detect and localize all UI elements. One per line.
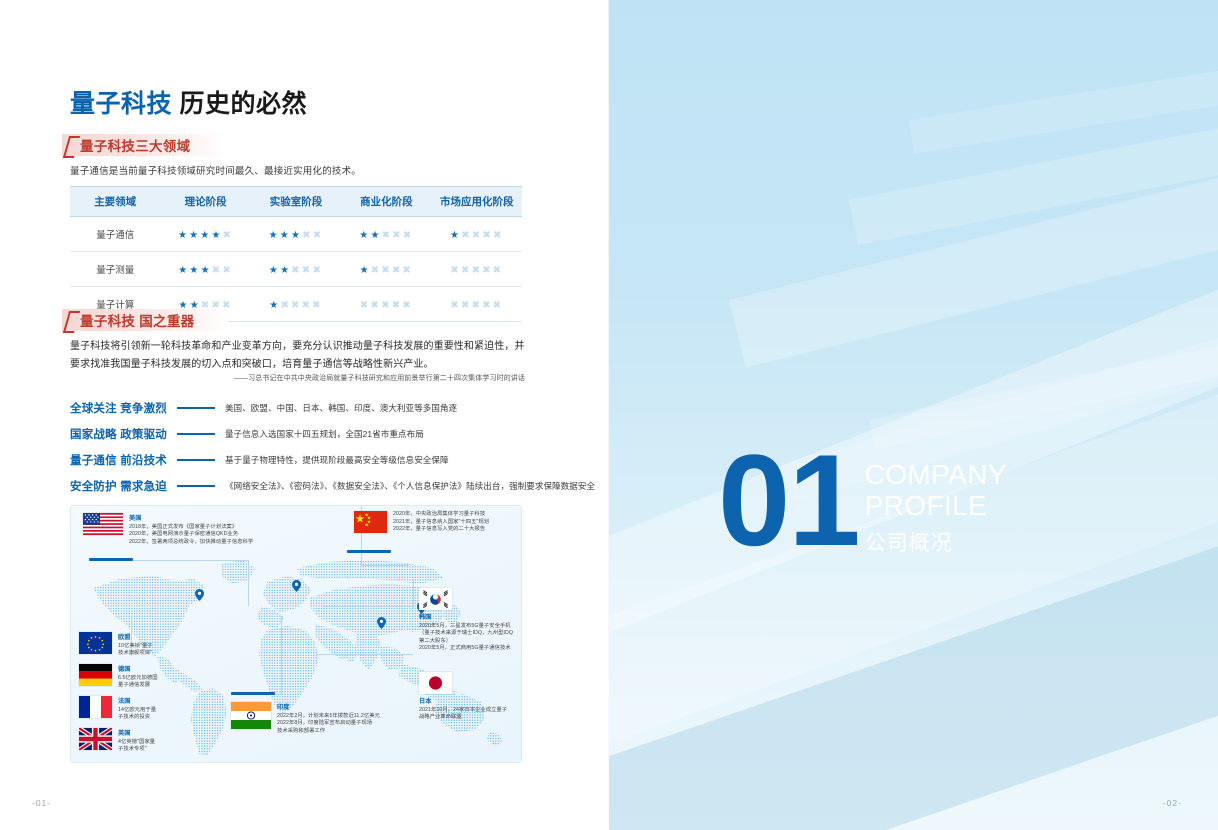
star-rating: ✖✖✖✖✖	[450, 300, 503, 311]
star-filled-icon: ★	[280, 265, 291, 276]
section1-lead-text: 量子通信是当前量子科技领域研究时间最久、最接近实用化的技术。	[70, 163, 361, 177]
table-cell-rating: ★✖✖✖✖	[432, 217, 522, 252]
left-page: 量子科技 历史的必然 量子科技三大领域 量子通信是当前量子科技领域研究时间最久、…	[0, 0, 609, 830]
right-page: -02-	[609, 0, 1218, 830]
connector-usa-vertical	[248, 560, 249, 606]
table-cell-rating: ✖✖✖✖✖	[432, 252, 522, 287]
page-title: 量子科技 历史的必然	[70, 84, 307, 120]
annotation-china-line-3: 2022年，量子信息写入党的二十大报告	[393, 526, 489, 534]
table-cell-rating: ★★★✖✖	[160, 252, 250, 287]
col-header-market: 市场应用化阶段	[432, 187, 522, 217]
star-filled-icon: ★	[178, 265, 189, 276]
table-cell-rating: ✖✖✖✖✖	[341, 287, 431, 322]
domains-table: 主要领域 理论阶段 实验室阶段 商业化阶段 市场应用化阶段 量子通信★★★★✖★…	[70, 186, 522, 322]
star-rating: ★★✖✖✖	[269, 265, 323, 276]
world-map-panel: 美国 2018年，美国正式发布《国家量子计划法案》 2020年，美国电网演示量子…	[70, 505, 522, 763]
star-filled-icon: ★	[291, 230, 302, 241]
star-rating: ★✖✖✖✖	[360, 265, 414, 276]
star-empty-icon: ✖	[212, 265, 223, 276]
flag-korea-icon	[419, 588, 452, 610]
star-filled-icon: ★	[189, 265, 200, 276]
key-point-1-label: 全球关注 竞争激烈	[70, 400, 167, 416]
key-point-2-desc: 量子信息入选国家十四五规划，全国21省市重点布局	[225, 428, 424, 440]
key-point-4-dash-icon	[177, 485, 215, 486]
star-empty-icon: ✖	[493, 265, 504, 276]
flag-india-icon	[231, 702, 271, 729]
key-point-3-label: 量子通信 前沿技术	[70, 452, 167, 468]
star-empty-icon: ✖	[493, 230, 504, 241]
annotation-korea-line-1: 2020年5月，三星发布5G量子安全手机	[419, 623, 513, 631]
key-point-4: 安全防护 需求急迫 《网络安全法》、《密码法》、《数据安全法》、《个人信息保护法…	[70, 478, 595, 494]
annotation-korea-line-2: （量子技术来源于瑞士IDQ，九州型IDQ	[419, 630, 513, 638]
star-empty-icon: ✖	[280, 300, 291, 311]
annotation-uk-line-1: 4亿英镑"国家量	[118, 739, 155, 747]
annotation-korea-line-3: 第二大股东）	[419, 638, 513, 646]
star-empty-icon: ✖	[461, 265, 472, 276]
annotation-usa-title: 美国	[129, 513, 253, 522]
table-cell-rating: ★★★✖✖	[251, 217, 341, 252]
star-empty-icon: ✖	[392, 300, 403, 311]
star-empty-icon: ✖	[313, 230, 324, 241]
key-point-1-desc: 美国、欧盟、中国、日本、韩国、印度、澳大利亚等多国角逐	[225, 402, 457, 414]
annotation-india: 印度 2022年2月，计划未来5年拨款近11.2亿美元 2022年8月，印度陆军…	[231, 702, 380, 735]
star-empty-icon: ✖	[291, 300, 302, 311]
annotation-uk: 英国 4亿英镑"国家量 子技术专项"	[79, 728, 155, 754]
star-filled-icon: ★	[211, 230, 222, 241]
flag-eu-icon	[79, 632, 112, 654]
star-rating: ✖✖✖✖✖	[360, 300, 413, 311]
flag-japan-icon	[419, 672, 452, 694]
annotation-usa-line-3: 2022年，签署两项总统政令，加快推动量子信息科学	[129, 539, 253, 547]
star-filled-icon: ★	[178, 230, 189, 241]
col-header-lab: 实验室阶段	[251, 187, 341, 217]
annotation-germany-line-2: 量子通信发展	[118, 682, 158, 690]
table-cell-rating: ★✖✖✖✖	[251, 287, 341, 322]
key-point-1-dash-icon	[177, 407, 215, 408]
star-filled-icon: ★	[280, 230, 291, 241]
star-empty-icon: ✖	[403, 230, 414, 241]
annotation-china-line-2: 2021年，量子信息纳入国家"十四五"规划	[393, 519, 489, 527]
annotation-india-line-1: 2022年2月，计划未来5年拨款近11.2亿美元	[277, 713, 380, 721]
annotation-china-text: 2020年，中央政治局集体学习量子科技 2021年，量子信息纳入国家"十四五"规…	[393, 511, 489, 534]
chapter-title-cn: 公司概况	[865, 527, 1007, 557]
col-header-commercial: 商业化阶段	[341, 187, 431, 217]
chapter-text: COMPANY PROFILE 公司概况	[865, 459, 1007, 557]
table-cell-rating: ★★✖✖✖	[251, 252, 341, 287]
connector-china-cap	[347, 550, 391, 553]
chapter-title-en-line2: PROFILE	[865, 490, 1007, 521]
annotation-usa-line-1: 2018年，美国正式发布《国家量子计划法案》	[129, 524, 253, 532]
annotation-france-line-2: 子技术的投资	[118, 714, 156, 722]
annotation-eu-title: 欧盟	[118, 632, 153, 641]
annotation-usa-text: 美国 2018年，美国正式发布《国家量子计划法案》 2020年，美国电网演示量子…	[129, 513, 253, 546]
key-point-2-dash-icon	[177, 433, 215, 434]
star-filled-icon: ★	[269, 265, 280, 276]
table-header-row: 主要领域 理论阶段 实验室阶段 商业化阶段 市场应用化阶段	[70, 187, 522, 217]
connector-korea-horizontal	[323, 606, 413, 607]
annotation-france-text: 法国 14亿欧元用于量 子技术的投资	[118, 696, 156, 722]
key-point-1: 全球关注 竞争激烈 美国、欧盟、中国、日本、韩国、印度、澳大利亚等多国角逐	[70, 400, 457, 416]
star-empty-icon: ✖	[360, 300, 371, 311]
annotation-usa: 美国 2018年，美国正式发布《国家量子计划法案》 2020年，美国电网演示量子…	[83, 513, 253, 546]
star-filled-icon: ★	[359, 230, 370, 241]
star-empty-icon: ✖	[302, 230, 313, 241]
key-point-3-desc: 基于量子物理特性，提供现阶段最高安全等级信息安全保障	[225, 454, 449, 466]
annotation-eu-line-2: 技术旗舰项目"	[118, 650, 153, 658]
annotation-uk-title: 英国	[118, 728, 155, 737]
star-empty-icon: ✖	[461, 230, 472, 241]
table-cell-rating: ✖✖✖✖✖	[432, 287, 522, 322]
star-rating: ★★★✖✖	[269, 230, 324, 241]
star-empty-icon: ✖	[403, 265, 414, 276]
annotation-germany: 德国 6.5亿欧元加德国 量子通信发展	[79, 664, 158, 690]
chapter-title-en-line1: COMPANY	[865, 459, 1007, 490]
star-empty-icon: ✖	[381, 300, 392, 311]
key-point-4-desc: 《网络安全法》、《密码法》、《数据安全法》、《个人信息保护法》陆续出台，强制要求…	[225, 480, 595, 492]
star-empty-icon: ✖	[472, 230, 483, 241]
star-empty-icon: ✖	[370, 300, 381, 311]
table-cell-rating: ★★★★✖	[160, 217, 250, 252]
key-point-3-dash-icon	[177, 459, 215, 460]
annotation-japan: 日本 2021年10月，24家日本企业成立量子 战略产业革命联盟	[419, 672, 507, 722]
star-filled-icon: ★	[450, 230, 461, 241]
table-cell-rating: ★✖✖✖✖	[341, 252, 431, 287]
connector-japan-horizontal	[317, 654, 413, 655]
annotation-india-text: 印度 2022年2月，计划未来5年拨款近11.2亿美元 2022年8月，印度陆军…	[277, 702, 380, 735]
annotation-india-title: 印度	[277, 702, 380, 711]
annotation-japan-text: 日本 2021年10月，24家日本企业成立量子 战略产业革命联盟	[419, 696, 507, 722]
connector-india-cap	[231, 692, 275, 695]
section-badge-three-domains: 量子科技三大领域	[62, 134, 224, 156]
table-row: 量子通信★★★★✖★★★✖✖★★✖✖✖★✖✖✖✖	[70, 217, 522, 252]
annotation-france-title: 法国	[118, 696, 156, 705]
star-empty-icon: ✖	[482, 265, 493, 276]
annotation-china: 2020年，中央政治局集体学习量子科技 2021年，量子信息纳入国家"十四五"规…	[354, 511, 489, 534]
star-empty-icon: ✖	[482, 230, 493, 241]
star-empty-icon: ✖	[222, 265, 233, 276]
star-rating: ★✖✖✖✖	[269, 300, 323, 311]
annotation-korea-text: 韩国 2020年5月，三星发布5G量子安全手机 （量子技术来源于瑞士IDQ，九州…	[419, 612, 513, 653]
star-filled-icon: ★	[189, 230, 200, 241]
page-title-part2: 历史的必然	[179, 90, 307, 118]
star-empty-icon: ✖	[471, 300, 482, 311]
page-number-left: -01-	[32, 798, 51, 808]
star-empty-icon: ✖	[482, 300, 493, 311]
map-pin-europe[interactable]	[292, 579, 301, 591]
annotation-france-line-1: 14亿欧元用于量	[118, 707, 156, 715]
annotation-eu-line-1: 10亿美锁"量子	[118, 643, 153, 651]
star-filled-icon: ★	[200, 230, 211, 241]
flag-usa-icon	[83, 513, 123, 535]
connector-india-vertical	[281, 616, 282, 694]
flag-china-icon	[354, 511, 387, 533]
key-point-4-label: 安全防护 需求急迫	[70, 478, 167, 494]
star-empty-icon: ✖	[312, 300, 323, 311]
quote-text: 量子科技将引领新一轮科技革命和产业变革方向，要充分认识推动量子科技发展的重要性和…	[70, 338, 525, 373]
annotation-eu-text: 欧盟 10亿美锁"量子 技术旗舰项目"	[118, 632, 153, 658]
star-empty-icon: ✖	[371, 265, 382, 276]
star-empty-icon: ✖	[382, 230, 393, 241]
star-empty-icon: ✖	[450, 300, 461, 311]
flag-germany-icon	[79, 664, 112, 686]
section-badge-national-pillar: 量子科技 国之重器	[62, 309, 228, 331]
annotation-eu: 欧盟 10亿美锁"量子 技术旗舰项目"	[79, 632, 153, 658]
star-rating: ★★★★✖	[178, 230, 233, 241]
table-cell-field: 量子通信	[70, 217, 160, 252]
star-filled-icon: ★	[370, 230, 381, 241]
annotation-japan-line-1: 2021年10月，24家日本企业成立量子	[419, 707, 507, 715]
annotation-korea-line-4: 2020年5月，正式商用5G量子通信技术	[419, 645, 513, 653]
star-empty-icon: ✖	[312, 265, 323, 276]
page-title-part1: 量子科技	[70, 90, 172, 118]
star-empty-icon: ✖	[450, 265, 461, 276]
star-rating: ✖✖✖✖✖	[450, 265, 503, 276]
decor-band-7	[869, 295, 1218, 449]
table-row: 量子测量★★★✖✖★★✖✖✖★✖✖✖✖✖✖✖✖✖	[70, 252, 522, 287]
flag-uk-icon	[79, 728, 112, 750]
annotation-india-line-3: 技术采购和部署工作	[277, 728, 380, 736]
annotation-uk-text: 英国 4亿英镑"国家量 子技术专项"	[118, 728, 155, 754]
chapter-number: 01	[718, 445, 859, 557]
col-header-field: 主要领域	[70, 187, 160, 217]
star-empty-icon: ✖	[223, 230, 234, 241]
connector-china-horizontal	[361, 565, 409, 566]
key-point-2: 国家战略 政策驱动 量子信息入选国家十四五规划，全国21省市重点布局	[70, 426, 424, 442]
brochure-spread: 量子科技 历史的必然 量子科技三大领域 量子通信是当前量子科技领域研究时间最久、…	[0, 0, 1218, 830]
quote-source: ——习总书记在中共中央政治局就量子科技研究和应用前景举行第二十四次集体学习时的讲…	[70, 373, 525, 383]
key-point-2-label: 国家战略 政策驱动	[70, 426, 167, 442]
decor-band-5	[909, 23, 1218, 154]
star-filled-icon: ★	[201, 265, 212, 276]
star-filled-icon: ★	[269, 230, 280, 241]
annotation-japan-title: 日本	[419, 696, 507, 705]
connector-korea-vertical	[413, 580, 414, 608]
annotation-korea: 韩国 2020年5月，三星发布5G量子安全手机 （量子技术来源于瑞士IDQ，九州…	[419, 588, 513, 653]
map-pin-india[interactable]	[377, 616, 386, 628]
map-pin-usa[interactable]	[195, 588, 204, 600]
table-cell-field: 量子测量	[70, 252, 160, 287]
annotation-japan-line-2: 战略产业革命联盟	[419, 714, 507, 722]
star-empty-icon: ✖	[392, 265, 403, 276]
page-number-right: -02-	[1163, 798, 1182, 808]
star-empty-icon: ✖	[471, 265, 482, 276]
annotation-uk-line-2: 子技术专项"	[118, 746, 155, 754]
annotation-korea-title: 韩国	[419, 612, 513, 621]
star-empty-icon: ✖	[392, 230, 403, 241]
decor-band-3	[729, 116, 1218, 368]
connector-usa-cap	[89, 558, 133, 561]
star-empty-icon: ✖	[461, 300, 472, 311]
annotation-germany-text: 德国 6.5亿欧元加德国 量子通信发展	[118, 664, 158, 690]
col-header-theory: 理论阶段	[160, 187, 250, 217]
annotation-usa-line-2: 2020年，美国电网演示量子保密通信QKD业务	[129, 531, 253, 539]
star-empty-icon: ✖	[302, 265, 313, 276]
star-empty-icon: ✖	[493, 300, 504, 311]
star-empty-icon: ✖	[381, 265, 392, 276]
star-rating: ★✖✖✖✖	[450, 230, 504, 241]
annotation-germany-title: 德国	[118, 664, 158, 673]
chapter-heading: 01 COMPANY PROFILE 公司概况	[718, 445, 1007, 557]
star-rating: ★★✖✖✖	[359, 230, 413, 241]
flag-france-icon	[79, 696, 112, 718]
annotation-germany-line-1: 6.5亿欧元加德国	[118, 675, 158, 683]
star-rating: ★★★✖✖	[178, 265, 233, 276]
annotation-france: 法国 14亿欧元用于量 子技术的投资	[79, 696, 156, 722]
decor-band-4	[849, 70, 1218, 245]
star-filled-icon: ★	[360, 265, 371, 276]
key-point-3: 量子通信 前沿技术 基于量子物理特性，提供现阶段最高安全等级信息安全保障	[70, 452, 449, 468]
table-cell-rating: ★★✖✖✖	[341, 217, 431, 252]
decor-band-1	[609, 193, 1218, 644]
star-empty-icon: ✖	[302, 300, 313, 311]
star-empty-icon: ✖	[291, 265, 302, 276]
star-empty-icon: ✖	[402, 300, 413, 311]
star-filled-icon: ★	[269, 300, 280, 311]
annotation-china-line-1: 2020年，中央政治局集体学习量子科技	[393, 511, 489, 519]
annotation-india-line-2: 2022年8月，印度陆军宣布启动量子现场	[277, 720, 380, 728]
